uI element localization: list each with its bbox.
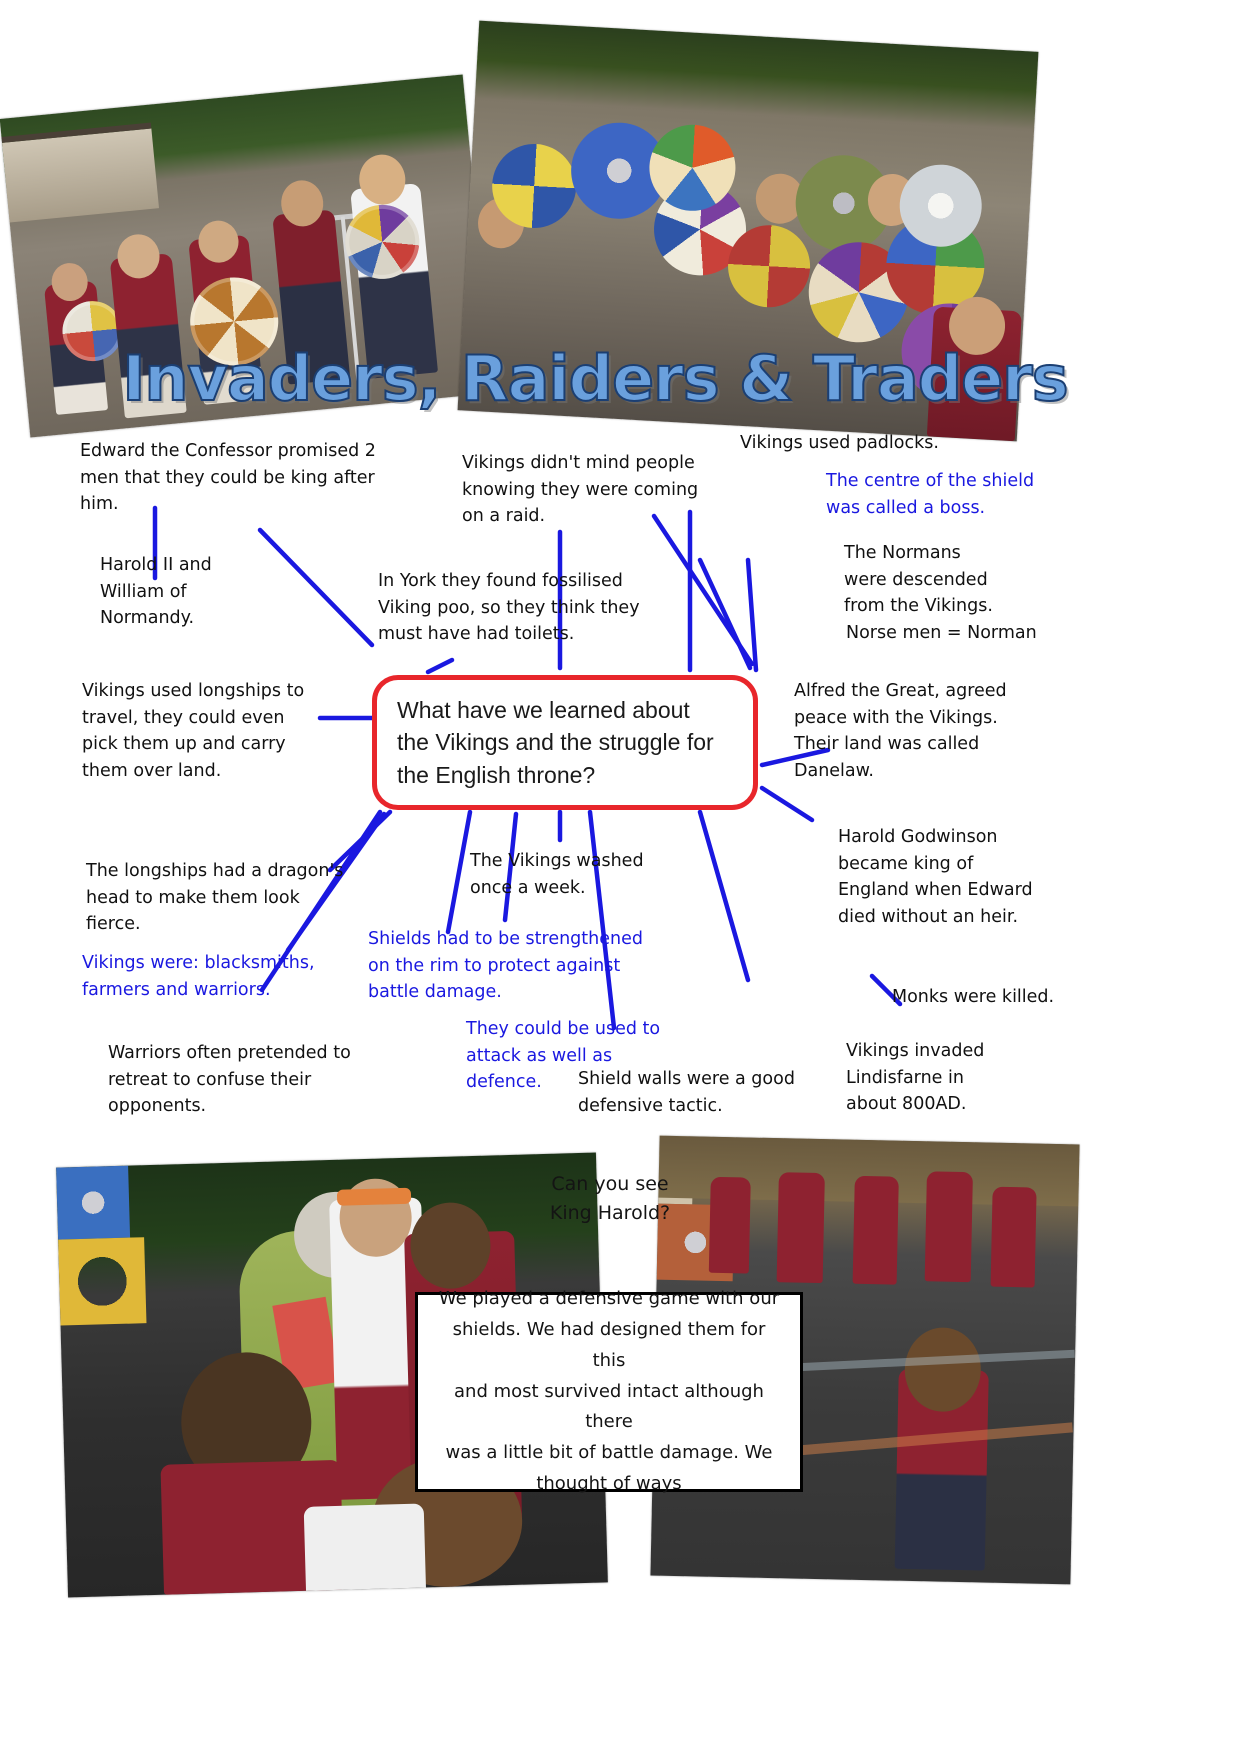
note-dragon-head: The longships had a dragon's head to mak… xyxy=(86,858,376,938)
note-warriors-retreat: Warriors often pretended to retreat to c… xyxy=(108,1040,408,1120)
note-shield-boss: The centre of the shield was called a bo… xyxy=(826,468,1056,521)
note-monks-killed: Monks were killed. xyxy=(892,984,1122,1011)
note-washed-weekly: The Vikings washed once a week. xyxy=(470,848,700,901)
child-figure xyxy=(925,1171,973,1282)
note-alfred-great: Alfred the Great, agreed peace with the … xyxy=(794,678,1064,784)
shield-prop xyxy=(58,1237,146,1325)
note-shield-walls: Shield walls were a good defensive tacti… xyxy=(578,1066,828,1119)
note-norse-men: Norse men = Norman xyxy=(846,620,1096,647)
central-question-text: What have we learned about the Vikings a… xyxy=(397,694,714,792)
headband-prop xyxy=(337,1188,411,1206)
school-building xyxy=(1,123,159,223)
note-york-poo: In York they found fossilised Viking poo… xyxy=(378,568,678,648)
mind-map: What have we learned about the Vikings a… xyxy=(0,420,1240,1140)
child-figure xyxy=(777,1172,825,1283)
note-edward-confessor: Edward the Confessor promised 2 men that… xyxy=(80,438,410,518)
note-longships-travel: Vikings used longships to travel, they c… xyxy=(82,678,332,784)
caption-king-harold: Can you see King Harold? xyxy=(525,1170,695,1229)
caption-defensive-game-box: We played a defensive game with our shie… xyxy=(415,1292,803,1492)
child-figure xyxy=(853,1176,899,1285)
note-didnt-mind: Vikings didn't mind people knowing they … xyxy=(462,450,722,530)
note-normans-descended: The Normans were descended from the Viki… xyxy=(844,540,1064,620)
caption-defensive-game-text: We played a defensive game with our shie… xyxy=(436,1284,782,1501)
note-lindisfarne: Vikings invaded Lindisfarne in about 800… xyxy=(846,1038,1076,1118)
shield-prop xyxy=(56,1166,130,1240)
child-figure xyxy=(304,1503,426,1596)
child-figure xyxy=(709,1177,751,1274)
note-viking-jobs: Vikings were: blacksmiths, farmers and w… xyxy=(82,950,372,1003)
note-harold-godwinson: Harold Godwinson became king of England … xyxy=(838,824,1088,930)
note-harold-william: Harold II and William of Normandy. xyxy=(100,552,320,632)
child-figure xyxy=(991,1187,1037,1288)
poster-page: Invaders, Raiders & Traders xyxy=(0,0,1240,1754)
note-padlocks: Vikings used padlocks. xyxy=(740,430,1000,457)
note-shields-rim: Shields had to be strengthened on the ri… xyxy=(368,926,658,1006)
central-question-box: What have we learned about the Vikings a… xyxy=(372,675,758,810)
page-title: Invaders, Raiders & Traders xyxy=(95,348,1095,410)
